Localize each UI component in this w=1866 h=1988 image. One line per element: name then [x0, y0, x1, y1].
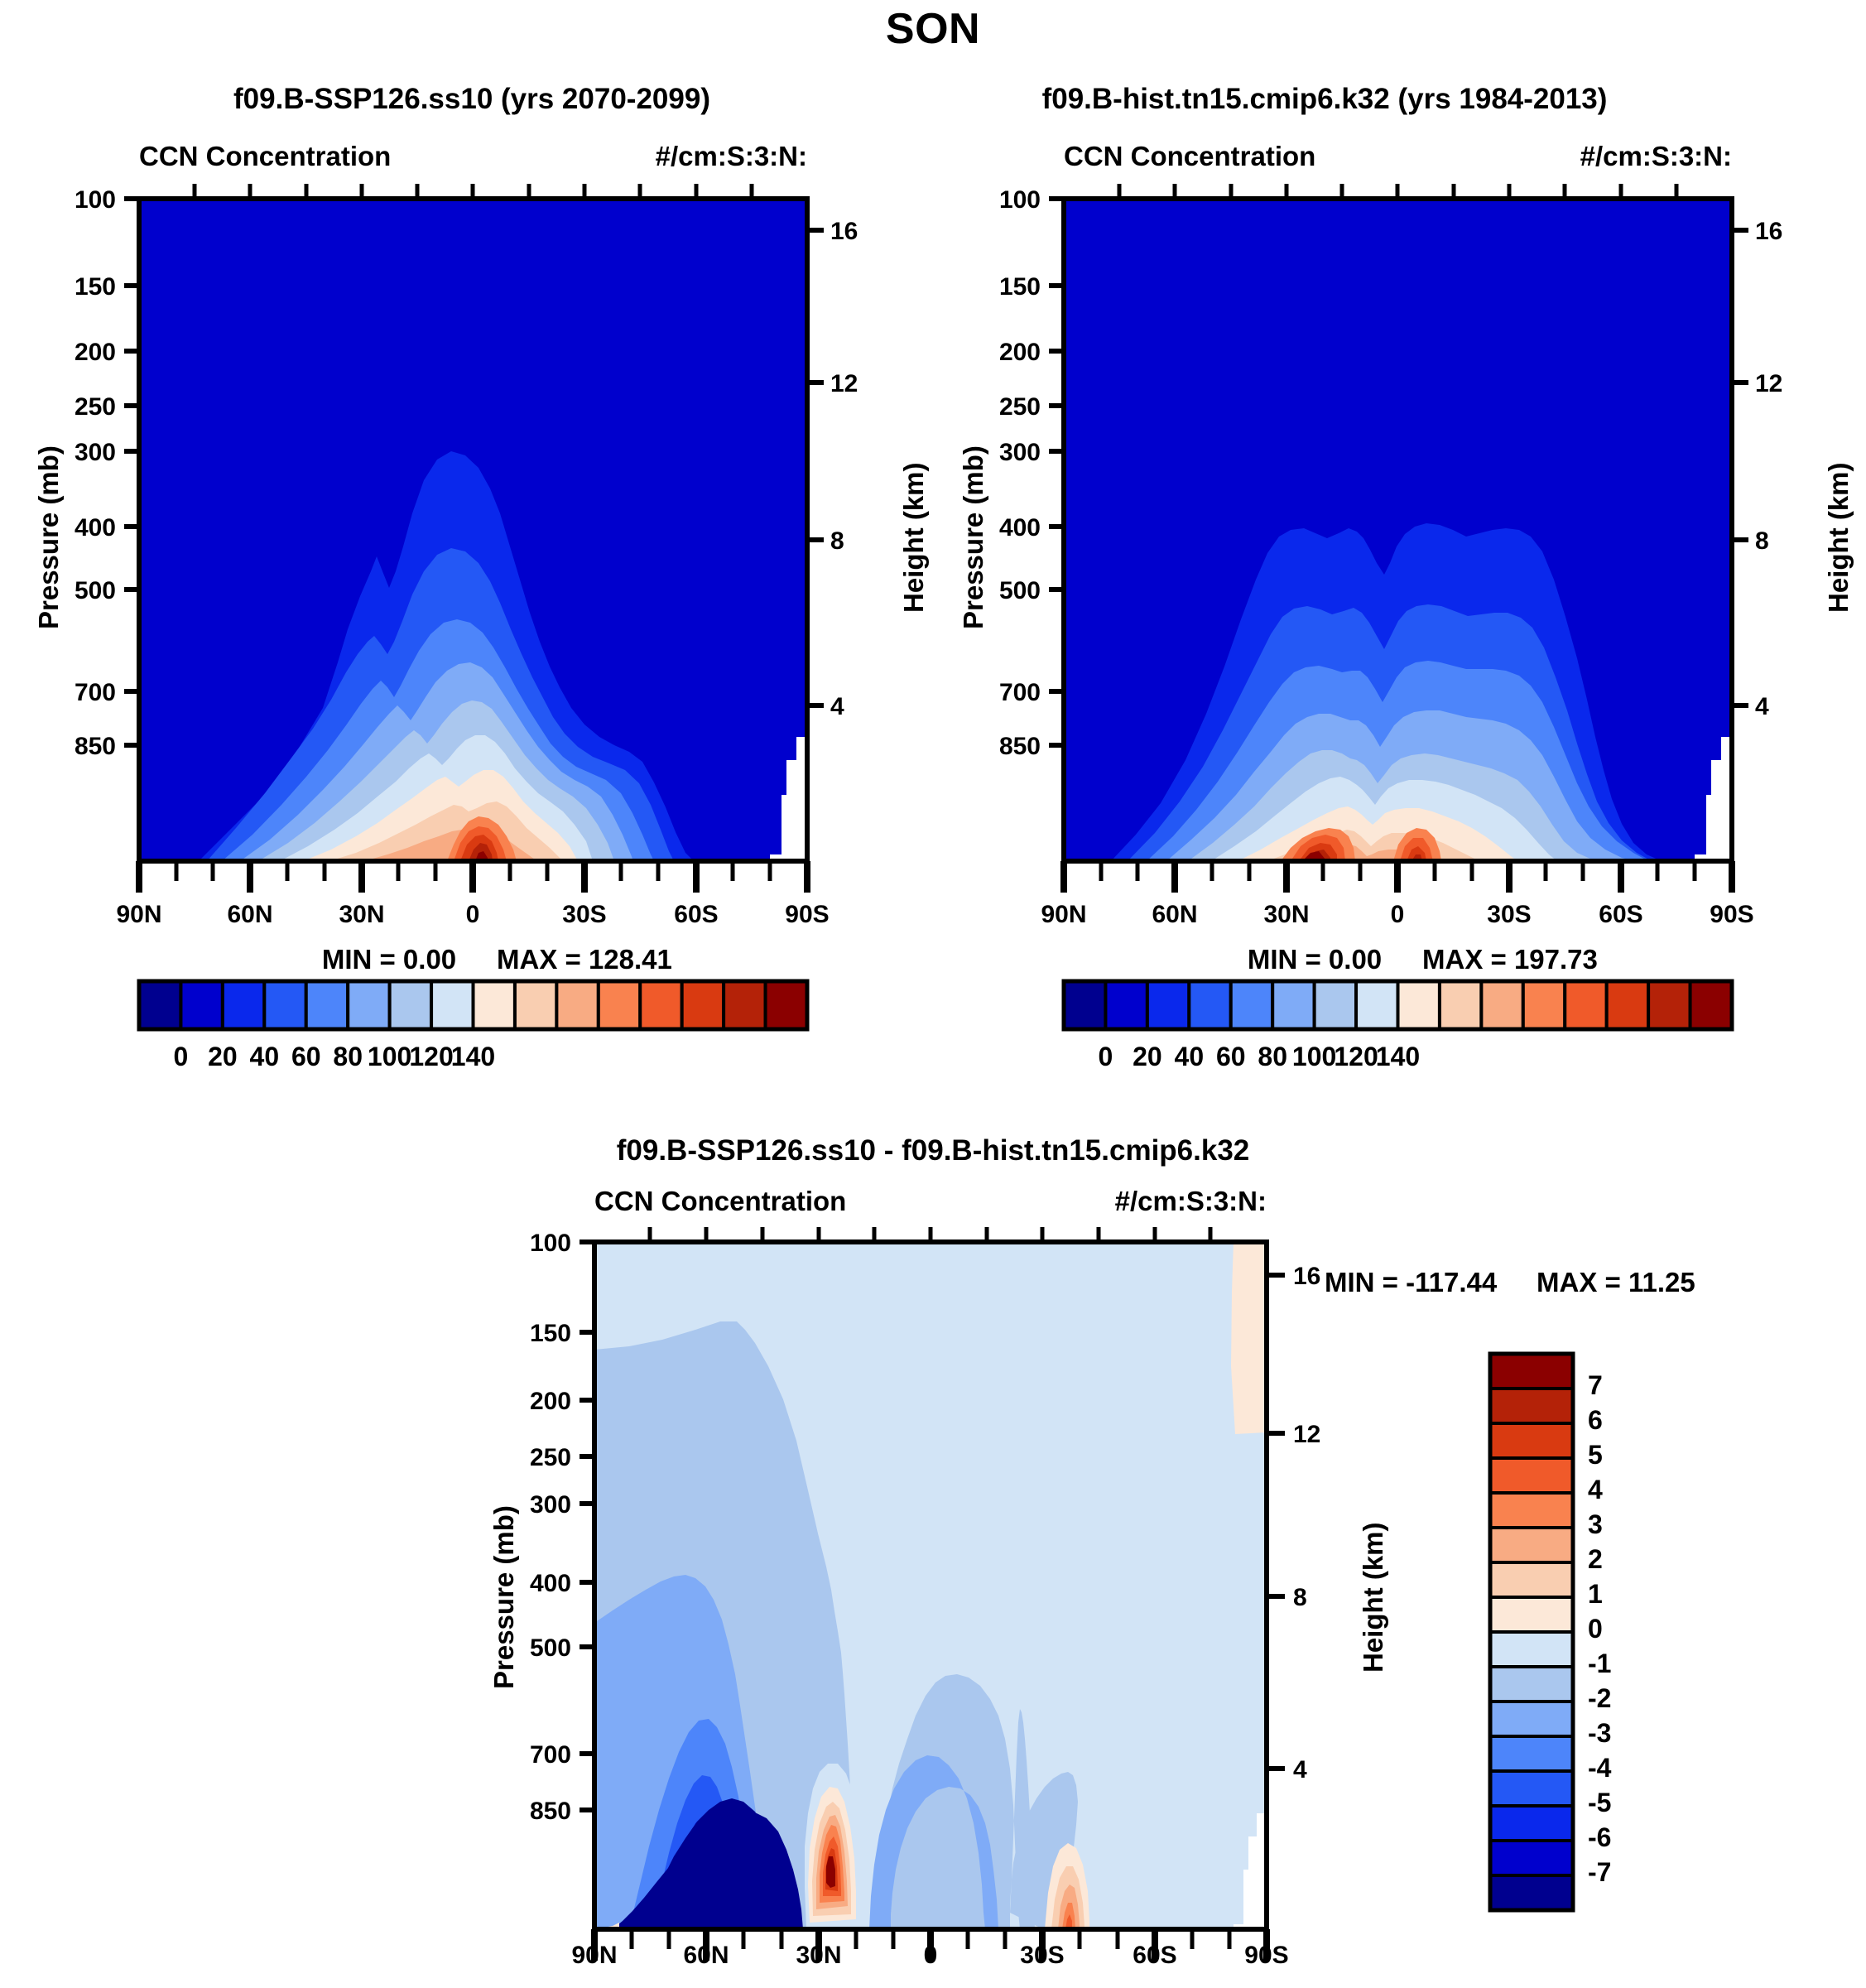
- colorbar-swatch: [766, 981, 807, 1029]
- colorbar-swatch: [264, 981, 305, 1029]
- colorbar-swatch: [1523, 981, 1565, 1029]
- colorbar-tick-label: 60: [1216, 1042, 1246, 1072]
- colorbar-tick-label: 100: [1292, 1042, 1336, 1072]
- y-axis-title: Pressure (mb): [33, 445, 65, 629]
- y2-tick-label: 4: [830, 693, 844, 721]
- colorbar-swatch: [515, 981, 556, 1029]
- x-tick-label: 30S: [1487, 901, 1531, 929]
- x-tick-label: 30S: [1020, 1942, 1064, 1970]
- colorbar-swatch: [1490, 1458, 1573, 1493]
- colorbar-swatch: [599, 981, 640, 1029]
- colorbar-tick-label: -7: [1588, 1857, 1611, 1888]
- colorbar-swatch: [1690, 981, 1732, 1029]
- contour-fill-group: [594, 1242, 1267, 1929]
- colorbar-swatch: [1398, 981, 1440, 1029]
- x-tick-label: 90N: [116, 901, 161, 929]
- colorbar-swatch: [1490, 1562, 1573, 1597]
- colorbar-tick-label: 5: [1588, 1440, 1603, 1471]
- y-tick-label: 200: [999, 339, 1041, 367]
- colorbar-vertical-diff: [1482, 1350, 1664, 1921]
- y2-tick-label: 12: [830, 370, 858, 398]
- x-tick-label: 60N: [1152, 901, 1197, 929]
- colorbar-swatch: [1607, 981, 1648, 1029]
- colorbar-swatch: [1490, 1493, 1573, 1528]
- y-tick-label: 150: [75, 273, 116, 301]
- figure-canvas: SON f09.B-SSP126.ss10 (yrs 2070-2099) CC…: [0, 0, 1866, 1988]
- colorbar-swatch: [1490, 1667, 1573, 1702]
- colorbar-swatch: [1565, 981, 1606, 1029]
- colorbar-tick-label: -4: [1588, 1753, 1611, 1783]
- y-tick-label: 250: [530, 1444, 571, 1472]
- contour-fill-group: [139, 199, 807, 861]
- colorbar-swatch: [1490, 1632, 1573, 1667]
- colorbar-swatch: [1064, 981, 1105, 1029]
- y-tick-label: 300: [999, 439, 1041, 467]
- colorbar-swatch: [1356, 981, 1397, 1029]
- colorbar-swatch: [474, 981, 515, 1029]
- x-tick-label: 60N: [227, 901, 272, 929]
- colorbar-swatch: [390, 981, 431, 1029]
- x-tick-label: 0: [1391, 901, 1405, 929]
- y-tick-label: 500: [530, 1634, 571, 1663]
- colorbar-swatch: [1490, 1841, 1573, 1875]
- colorbar-swatch: [348, 981, 389, 1029]
- x-tick-label: 30N: [339, 901, 384, 929]
- y-axis-title: Pressure (mb): [488, 1505, 520, 1689]
- y2-tick-label: 12: [1755, 370, 1782, 398]
- colorbar-swatch: [1648, 981, 1690, 1029]
- colorbar-swatch: [306, 981, 348, 1029]
- y2-tick-label: 16: [1293, 1263, 1320, 1291]
- y-tick-label: 250: [75, 393, 116, 421]
- x-tick-label: 0: [924, 1942, 938, 1970]
- y-tick-label: 250: [999, 393, 1041, 421]
- x-tick-label: 90S: [1244, 1942, 1288, 1970]
- y-tick-label: 500: [999, 577, 1041, 605]
- colorbar-tick-label: 4: [1588, 1475, 1603, 1505]
- colorbar-swatch: [1490, 1597, 1573, 1632]
- colorbar-tick-label: 0: [1099, 1042, 1113, 1072]
- colorbar-swatch: [1189, 981, 1230, 1029]
- colorbar-swatch: [1490, 1736, 1573, 1771]
- x-tick-label: 90S: [1710, 901, 1753, 929]
- colorbar-tick-label: 120: [409, 1042, 453, 1072]
- y-tick-label: 200: [530, 1388, 571, 1416]
- colorbar-swatch: [1147, 981, 1189, 1029]
- colorbar-tick-label: 60: [291, 1042, 321, 1072]
- y-tick-label: 300: [75, 439, 116, 467]
- colorbar-tick-label: -1: [1588, 1649, 1611, 1679]
- colorbar-swatch: [1440, 981, 1481, 1029]
- y2-tick-label: 12: [1293, 1421, 1320, 1449]
- colorbar-swatch: [724, 981, 765, 1029]
- y-tick-label: 400: [530, 1570, 571, 1598]
- x-tick-label: 60S: [1599, 901, 1642, 929]
- y2-axis-title: Height (km): [1823, 463, 1854, 614]
- y2-tick-label: 16: [830, 218, 858, 246]
- y-tick-label: 700: [75, 679, 116, 707]
- y2-tick-label: 8: [1293, 1584, 1307, 1612]
- colorbar-swatch: [139, 981, 180, 1029]
- colorbar-swatch: [556, 981, 598, 1029]
- y-tick-label: 700: [999, 679, 1041, 707]
- colorbar-tick-label: 0: [1588, 1614, 1603, 1644]
- x-tick-label: 90S: [785, 901, 829, 929]
- y2-axis-title: Height (km): [1358, 1523, 1389, 1673]
- max-label: MAX = 11.25: [1537, 1267, 1695, 1298]
- colorbar-swatch: [1490, 1389, 1573, 1423]
- colorbar-tick-label: 1: [1588, 1579, 1603, 1610]
- colorbar-tick-label: 6: [1588, 1405, 1603, 1436]
- colorbar-tick-label: 2: [1588, 1544, 1603, 1575]
- y2-major-ticks: [1267, 1275, 1285, 1769]
- colorbar-tick-label: 80: [1258, 1042, 1287, 1072]
- y-tick-label: 150: [530, 1320, 571, 1348]
- colorbar-tick-label: -5: [1588, 1788, 1611, 1818]
- colorbar-tick-label: 0: [174, 1042, 189, 1072]
- colorbar-tick-label: -2: [1588, 1683, 1611, 1714]
- x-tick-label: 90N: [1041, 901, 1086, 929]
- x-tick-label: 30N: [796, 1942, 841, 1970]
- x-tick-label: 30N: [1263, 901, 1309, 929]
- colorbar-tick-label: 140: [451, 1042, 495, 1072]
- x-tick-label: 60S: [674, 901, 718, 929]
- y-tick-label: 400: [75, 514, 116, 542]
- y-tick-label: 400: [999, 514, 1041, 542]
- colorbar-tick-label: 7: [1588, 1370, 1603, 1401]
- colorbar-swatch: [1490, 1702, 1573, 1736]
- contour-fill-group: [1064, 199, 1732, 861]
- contour-band-pos-upper: [1231, 1242, 1267, 1434]
- colorbar-swatch: [1490, 1806, 1573, 1841]
- colorbar-tick-label: 100: [368, 1042, 411, 1072]
- colorbar-tick-label: 20: [208, 1042, 238, 1072]
- colorbar-horizontal-ssp126: [0, 977, 933, 1035]
- y-tick-label: 100: [75, 186, 116, 214]
- colorbar-swatch: [1272, 981, 1314, 1029]
- x-tick-label: 60S: [1133, 1942, 1176, 1970]
- colorbar-tick-label: -3: [1588, 1718, 1611, 1749]
- y-tick-label: 100: [530, 1230, 571, 1258]
- colorbar-swatch: [1490, 1771, 1573, 1806]
- colorbar-tick-label: 40: [1175, 1042, 1205, 1072]
- colorbar-tick-label: 40: [250, 1042, 280, 1072]
- y2-tick-label: 4: [1293, 1756, 1307, 1784]
- colorbar-swatch: [431, 981, 473, 1029]
- y-axis-title: Pressure (mb): [958, 445, 989, 629]
- colorbar-tick-label: 120: [1334, 1042, 1378, 1072]
- y-tick-label: 100: [999, 186, 1041, 214]
- y-tick-label: 500: [75, 577, 116, 605]
- x-tick-label: 30S: [562, 901, 606, 929]
- colorbar-tick-label: 80: [333, 1042, 363, 1072]
- x-tick-label: 0: [466, 901, 480, 929]
- colorbar-swatch: [1315, 981, 1356, 1029]
- y-tick-label: 850: [75, 733, 116, 761]
- colorbar-tick-label: -6: [1588, 1822, 1611, 1853]
- colorbar-swatch: [223, 981, 264, 1029]
- colorbar-horizontal-hist: [933, 977, 1866, 1035]
- colorbar-swatch: [1490, 1423, 1573, 1458]
- x-bottom-ticks: [1064, 861, 1732, 893]
- min-label: MIN = 0.00: [322, 944, 456, 975]
- y-tick-label: 700: [530, 1741, 571, 1769]
- colorbar-tick-label: 3: [1588, 1509, 1603, 1540]
- colorbar-swatch: [640, 981, 681, 1029]
- max-label: MAX = 128.41: [497, 944, 672, 975]
- y2-tick-label: 8: [830, 527, 844, 556]
- y-tick-label: 300: [530, 1491, 571, 1519]
- y2-tick-label: 16: [1755, 218, 1782, 246]
- colorbar-swatch: [1490, 1528, 1573, 1562]
- panel-ssp126-plot: [0, 0, 933, 1110]
- min-label: MIN = -117.44: [1325, 1267, 1497, 1298]
- x-tick-label: 90N: [571, 1942, 617, 1970]
- y-tick-label: 850: [999, 733, 1041, 761]
- colorbar-swatch: [1490, 1354, 1573, 1389]
- colorbar-tick-label: 20: [1133, 1042, 1162, 1072]
- colorbar-swatch: [682, 981, 724, 1029]
- max-label: MAX = 197.73: [1422, 944, 1598, 975]
- x-tick-label: 60N: [683, 1942, 729, 1970]
- min-label: MIN = 0.00: [1248, 944, 1382, 975]
- colorbar-swatch: [1231, 981, 1272, 1029]
- x-bottom-ticks: [139, 861, 807, 893]
- y2-axis-title: Height (km): [898, 463, 930, 614]
- colorbar-swatch: [1105, 981, 1147, 1029]
- y-tick-label: 200: [75, 339, 116, 367]
- colorbar-swatch: [180, 981, 222, 1029]
- colorbar-swatch: [1481, 981, 1522, 1029]
- colorbar-swatch: [1490, 1875, 1573, 1910]
- y-tick-label: 150: [999, 273, 1041, 301]
- colorbar-tick-label: 140: [1376, 1042, 1420, 1072]
- y2-tick-label: 8: [1755, 527, 1769, 556]
- y2-tick-label: 4: [1755, 693, 1769, 721]
- y-tick-label: 850: [530, 1798, 571, 1826]
- panel-hist-plot: [933, 0, 1866, 1110]
